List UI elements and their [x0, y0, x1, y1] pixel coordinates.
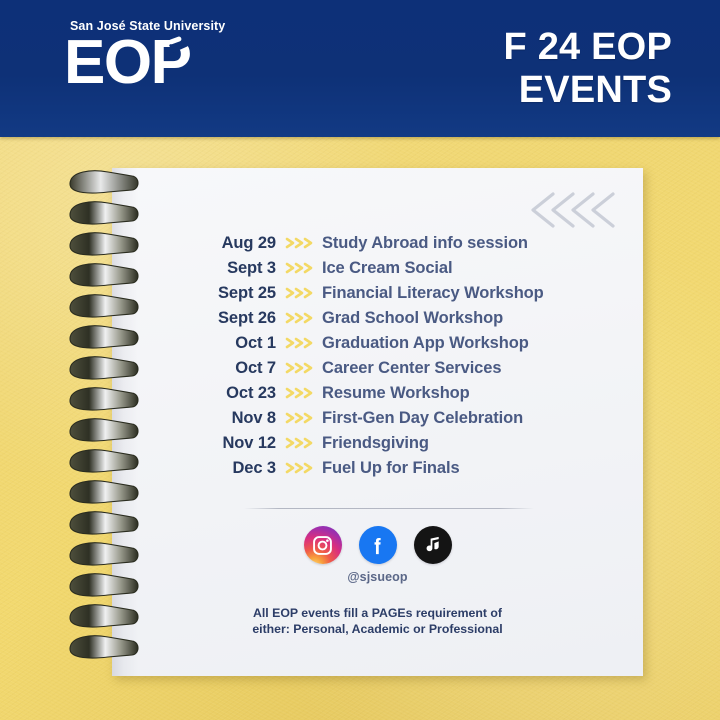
triple-chevron-right-icon	[276, 235, 322, 251]
triple-chevron-right-icon	[276, 435, 322, 451]
event-title: Ice Cream Social	[322, 259, 452, 278]
triple-chevron-right-icon	[276, 285, 322, 301]
triple-chevron-right-icon	[276, 260, 322, 276]
table-row: Sept 26 Grad School Workshop	[112, 309, 643, 334]
page-title-line-1: F 24 EOP	[504, 26, 672, 69]
table-row: Oct 23 Resume Workshop	[112, 384, 643, 409]
table-row: Oct 1 Graduation App Workshop	[112, 334, 643, 359]
event-title: Resume Workshop	[322, 384, 470, 403]
event-title: Graduation App Workshop	[322, 334, 529, 353]
table-row: Sept 25 Financial Literacy Workshop	[112, 284, 643, 309]
social-links	[112, 526, 643, 564]
spiral-wire-binding-icon	[62, 166, 146, 678]
triple-chevron-right-icon	[276, 360, 322, 376]
pages-note-line-1: All EOP events fill a PAGEs requirement …	[112, 605, 643, 621]
pages-requirement-note: All EOP events fill a PAGEs requirement …	[112, 605, 643, 638]
event-title: First-Gen Day Celebration	[322, 409, 523, 428]
events-list: Aug 29 Study Abroad info session Sept 3 …	[112, 234, 643, 484]
event-title: Grad School Workshop	[322, 309, 503, 328]
header-banner: San José State University EOP F 24 EOP E…	[0, 0, 720, 137]
social-handle: @sjsueop	[112, 570, 643, 584]
triple-chevron-left-icon	[525, 188, 621, 232]
eop-events-flyer: San José State University EOP F 24 EOP E…	[0, 0, 720, 720]
pages-note-line-2: either: Personal, Academic or Profession…	[112, 621, 643, 637]
table-row: Nov 12 Friendsgiving	[112, 434, 643, 459]
triple-chevron-right-icon	[276, 410, 322, 426]
page-title: F 24 EOP EVENTS	[504, 26, 672, 111]
triple-chevron-right-icon	[276, 385, 322, 401]
table-row: Sept 3 Ice Cream Social	[112, 259, 643, 284]
sjsu-eop-logo: San José State University EOP	[64, 20, 284, 94]
triple-chevron-right-icon	[276, 335, 322, 351]
triple-chevron-right-icon	[276, 460, 322, 476]
instagram-icon[interactable]	[304, 526, 342, 564]
event-title: Study Abroad info session	[322, 234, 528, 253]
table-row: Dec 3 Fuel Up for Finals	[112, 459, 643, 484]
music-note-icon[interactable]	[414, 526, 452, 564]
event-title: Career Center Services	[322, 359, 501, 378]
triple-chevron-right-icon	[276, 310, 322, 326]
section-divider	[244, 508, 534, 509]
event-title: Friendsgiving	[322, 434, 429, 453]
page-title-line-2: EVENTS	[504, 69, 672, 112]
table-row: Nov 8 First-Gen Day Celebration	[112, 409, 643, 434]
table-row: Oct 7 Career Center Services	[112, 359, 643, 384]
table-row: Aug 29 Study Abroad info session	[112, 234, 643, 259]
event-title: Fuel Up for Finals	[322, 459, 460, 478]
notebook-page: Aug 29 Study Abroad info session Sept 3 …	[112, 168, 643, 676]
event-title: Financial Literacy Workshop	[322, 284, 544, 303]
facebook-icon[interactable]	[359, 526, 397, 564]
logo-acronym-wrap: EOP	[64, 31, 190, 94]
